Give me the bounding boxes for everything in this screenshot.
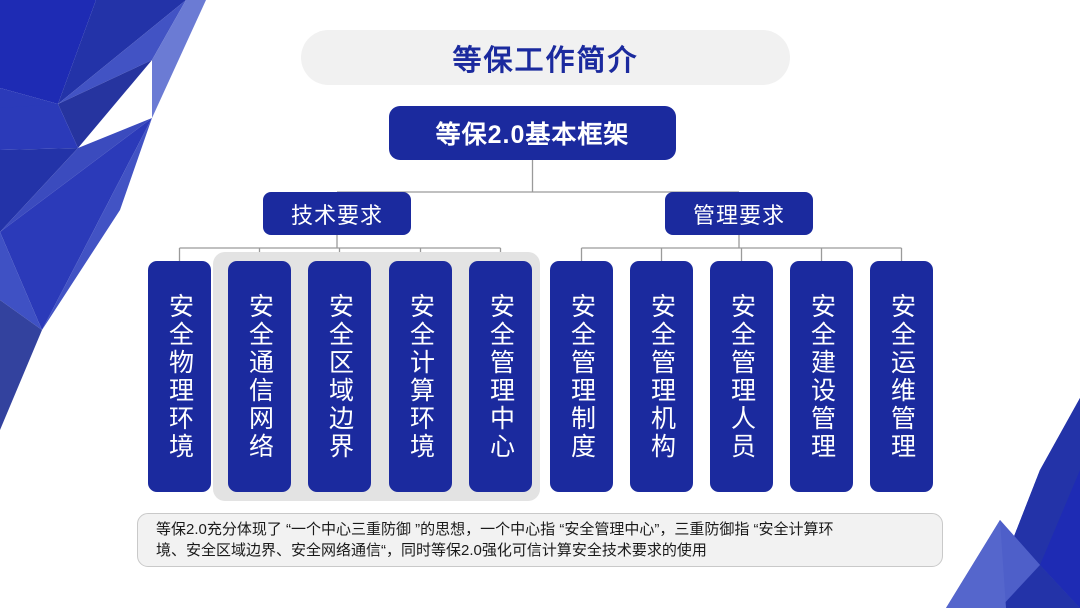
leaf-management-center-label: 安全管理中心 [487, 293, 515, 461]
footnote-line-1: 等保2.0充分体现了 “一个中心三重防御 ”的思想，一个中心指 “安全管理中心”… [156, 519, 924, 540]
node-technical-requirements-label: 技术要求 [291, 198, 383, 230]
node-management-requirements[interactable]: 管理要求 [665, 192, 813, 235]
node-root-label: 等保2.0基本框架 [436, 115, 630, 151]
node-management-requirements-label: 管理要求 [693, 198, 785, 230]
leaf-management-system-label: 安全管理制度 [568, 293, 596, 461]
leaf-computing-environment[interactable]: 安全计算环境 [389, 261, 452, 492]
leaf-management-personnel-label: 安全管理人员 [728, 293, 756, 461]
leaf-computing-environment-label: 安全计算环境 [407, 293, 435, 461]
leaf-physical-environment-label: 安全物理环境 [166, 293, 194, 461]
page-title: 等保工作简介 [452, 37, 638, 79]
leaf-communication-network-label: 安全通信网络 [246, 293, 274, 461]
leaf-management-organization[interactable]: 安全管理机构 [630, 261, 693, 492]
node-root[interactable]: 等保2.0基本框架 [389, 106, 676, 160]
leaf-management-organization-label: 安全管理机构 [648, 293, 676, 461]
node-technical-requirements[interactable]: 技术要求 [263, 192, 411, 235]
leaf-area-boundary[interactable]: 安全区域边界 [308, 261, 371, 492]
leaf-operations-management-label: 安全运维管理 [888, 293, 916, 461]
leaf-construction-management[interactable]: 安全建设管理 [790, 261, 853, 492]
slide-title-pill: 等保工作简介 [301, 30, 790, 85]
footnote-box: 等保2.0充分体现了 “一个中心三重防御 ”的思想，一个中心指 “安全管理中心”… [137, 513, 943, 567]
footnote-line-2: 境、安全区域边界、安全网络通信“，同时等保2.0强化可信计算安全技术要求的使用 [156, 540, 924, 561]
leaf-management-system[interactable]: 安全管理制度 [550, 261, 613, 492]
leaf-operations-management[interactable]: 安全运维管理 [870, 261, 933, 492]
leaf-communication-network[interactable]: 安全通信网络 [228, 261, 291, 492]
leaf-management-center[interactable]: 安全管理中心 [469, 261, 532, 492]
leaf-physical-environment[interactable]: 安全物理环境 [148, 261, 211, 492]
leaf-area-boundary-label: 安全区域边界 [326, 293, 354, 461]
leaf-management-personnel[interactable]: 安全管理人员 [710, 261, 773, 492]
leaf-construction-management-label: 安全建设管理 [808, 293, 836, 461]
